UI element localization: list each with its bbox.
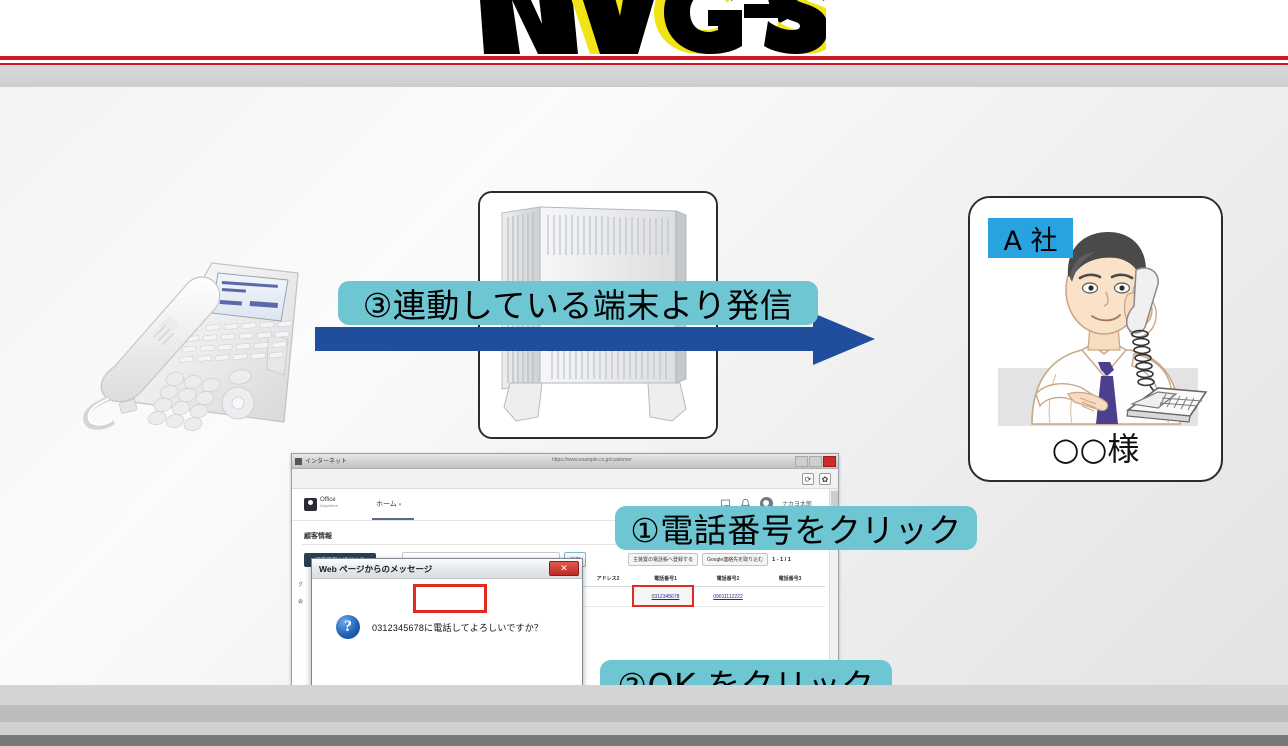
callout-step1: ①電話番号をクリック xyxy=(615,506,977,550)
question-icon: ? xyxy=(336,615,360,639)
browser-title-bar: インターネット https://www.example.co.jp/custom… xyxy=(292,454,838,469)
minimize-button[interactable] xyxy=(795,456,808,467)
top-banner xyxy=(0,0,1288,56)
callout-step3: ③連動している端末より発信 xyxy=(338,281,818,325)
col-header-address2: アドレス2 xyxy=(582,571,634,586)
customer-table: アドレス2 電話番号1 電話番号2 電話番号3 0312345678 09011… xyxy=(582,571,825,607)
dialog-title-bar: Web ページからのメッセージ ✕ xyxy=(312,559,582,579)
record-count: 1 - 1 / 1 xyxy=(772,557,791,563)
table-action-bar: 主装置の電話帳へ登録する Google連絡先を取り込む 1 - 1 / 1 xyxy=(628,553,791,566)
banner-grey-band xyxy=(0,65,1288,87)
window-controls[interactable] xyxy=(795,456,836,467)
desk-phone xyxy=(62,227,324,432)
footer-band-1 xyxy=(0,685,1288,705)
table-row: 0312345678 09011112222 xyxy=(582,587,825,607)
browser-toolbar: ⟳ ✿ xyxy=(292,469,838,489)
company-badge: A 社 xyxy=(988,218,1073,258)
col-header-phone2: 電話番号2 xyxy=(697,571,759,586)
col-header-phone1: 電話番号1 xyxy=(634,571,697,586)
dialog-close-button[interactable]: ✕ xyxy=(549,561,579,576)
nav-home-tab[interactable]: ホーム▾ xyxy=(376,499,401,509)
nav-active-underline xyxy=(372,518,414,520)
register-to-pbx-button[interactable]: 主装置の電話帳へ登録する xyxy=(628,553,698,566)
ok-button-highlight xyxy=(413,584,487,613)
table-header-row: アドレス2 電話番号1 電話番号2 電話番号3 xyxy=(582,571,825,587)
footer-band-2 xyxy=(0,705,1288,722)
refresh-icon[interactable]: ⟳ xyxy=(802,473,814,485)
chevron-down-icon: ▾ xyxy=(399,502,402,508)
app-logo[interactable]: Office Anywhere xyxy=(304,496,344,514)
maximize-button[interactable] xyxy=(809,456,822,467)
dialog-message: 0312345678に電話してよろしいですか？ xyxy=(372,621,543,634)
customer-name: ○○様 xyxy=(970,424,1221,470)
browser-window-title: インターネット xyxy=(305,456,347,465)
browser-app-icon xyxy=(295,458,302,465)
slide-stage: ③連動している端末より発信 A 社 xyxy=(0,87,1288,685)
customer-card: A 社 xyxy=(968,196,1223,482)
browser-url-text: https://www.example.co.jp/customer xyxy=(552,457,632,463)
gear-icon[interactable]: ✿ xyxy=(819,473,831,485)
nyc-si-logo xyxy=(466,0,826,56)
app-logo-word: Office Anywhere xyxy=(320,497,338,509)
col-header-phone3: 電話番号3 xyxy=(759,571,821,586)
footer-band-4 xyxy=(0,735,1288,746)
phone-number-highlight xyxy=(632,585,694,607)
close-button[interactable] xyxy=(823,456,836,467)
slide-root: ③連動している端末より発信 A 社 xyxy=(0,0,1288,746)
dialog-title: Web ページからのメッセージ xyxy=(319,563,432,575)
footer-band-3 xyxy=(0,722,1288,735)
side-row-labels: グ 会 xyxy=(298,577,303,611)
import-google-contacts-button[interactable]: Google連絡先を取り込む xyxy=(702,553,768,566)
cell-phone2[interactable]: 09011112222 xyxy=(697,594,759,600)
page-title: 顧客情報 xyxy=(304,531,332,541)
app-logo-mark xyxy=(304,498,317,511)
